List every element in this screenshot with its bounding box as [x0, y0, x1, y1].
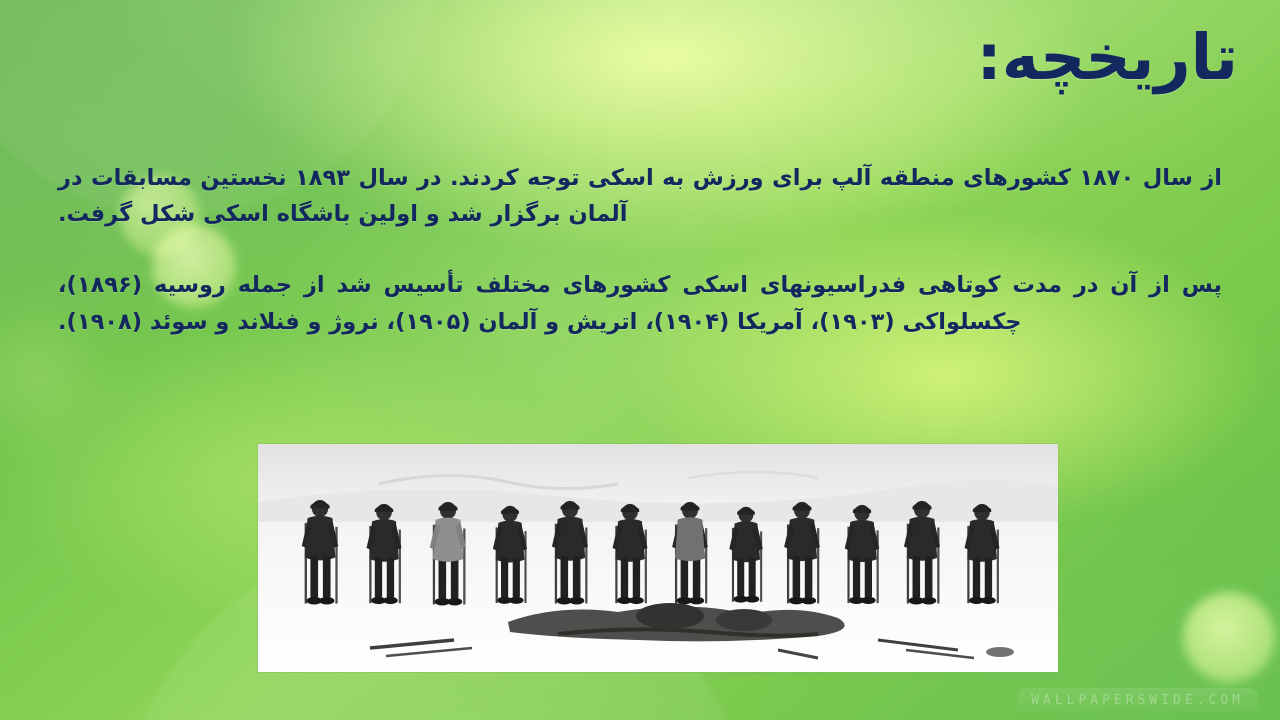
- vintage-skiers-photo-illustration: [258, 444, 1058, 672]
- watermark: WALLPAPERSWIDE.COM: [1017, 688, 1258, 712]
- paragraph-1: از سال ۱۸۷۰ کشورهای منطقه آلپ برای ورزش …: [58, 160, 1222, 233]
- paragraph-2: پس از آن در مدت کوتاهی فدراسیونهای اسکی …: [58, 267, 1222, 341]
- page-title: تاریخچه:: [977, 22, 1238, 94]
- slide-photo: [258, 444, 1058, 672]
- presentation-slide: تاریخچه: از سال ۱۸۷۰ کشورهای منطقه آلپ ب…: [0, 0, 1280, 720]
- slide-body: از سال ۱۸۷۰ کشورهای منطقه آلپ برای ورزش …: [58, 160, 1222, 363]
- bokeh-circle-3: [1183, 592, 1275, 682]
